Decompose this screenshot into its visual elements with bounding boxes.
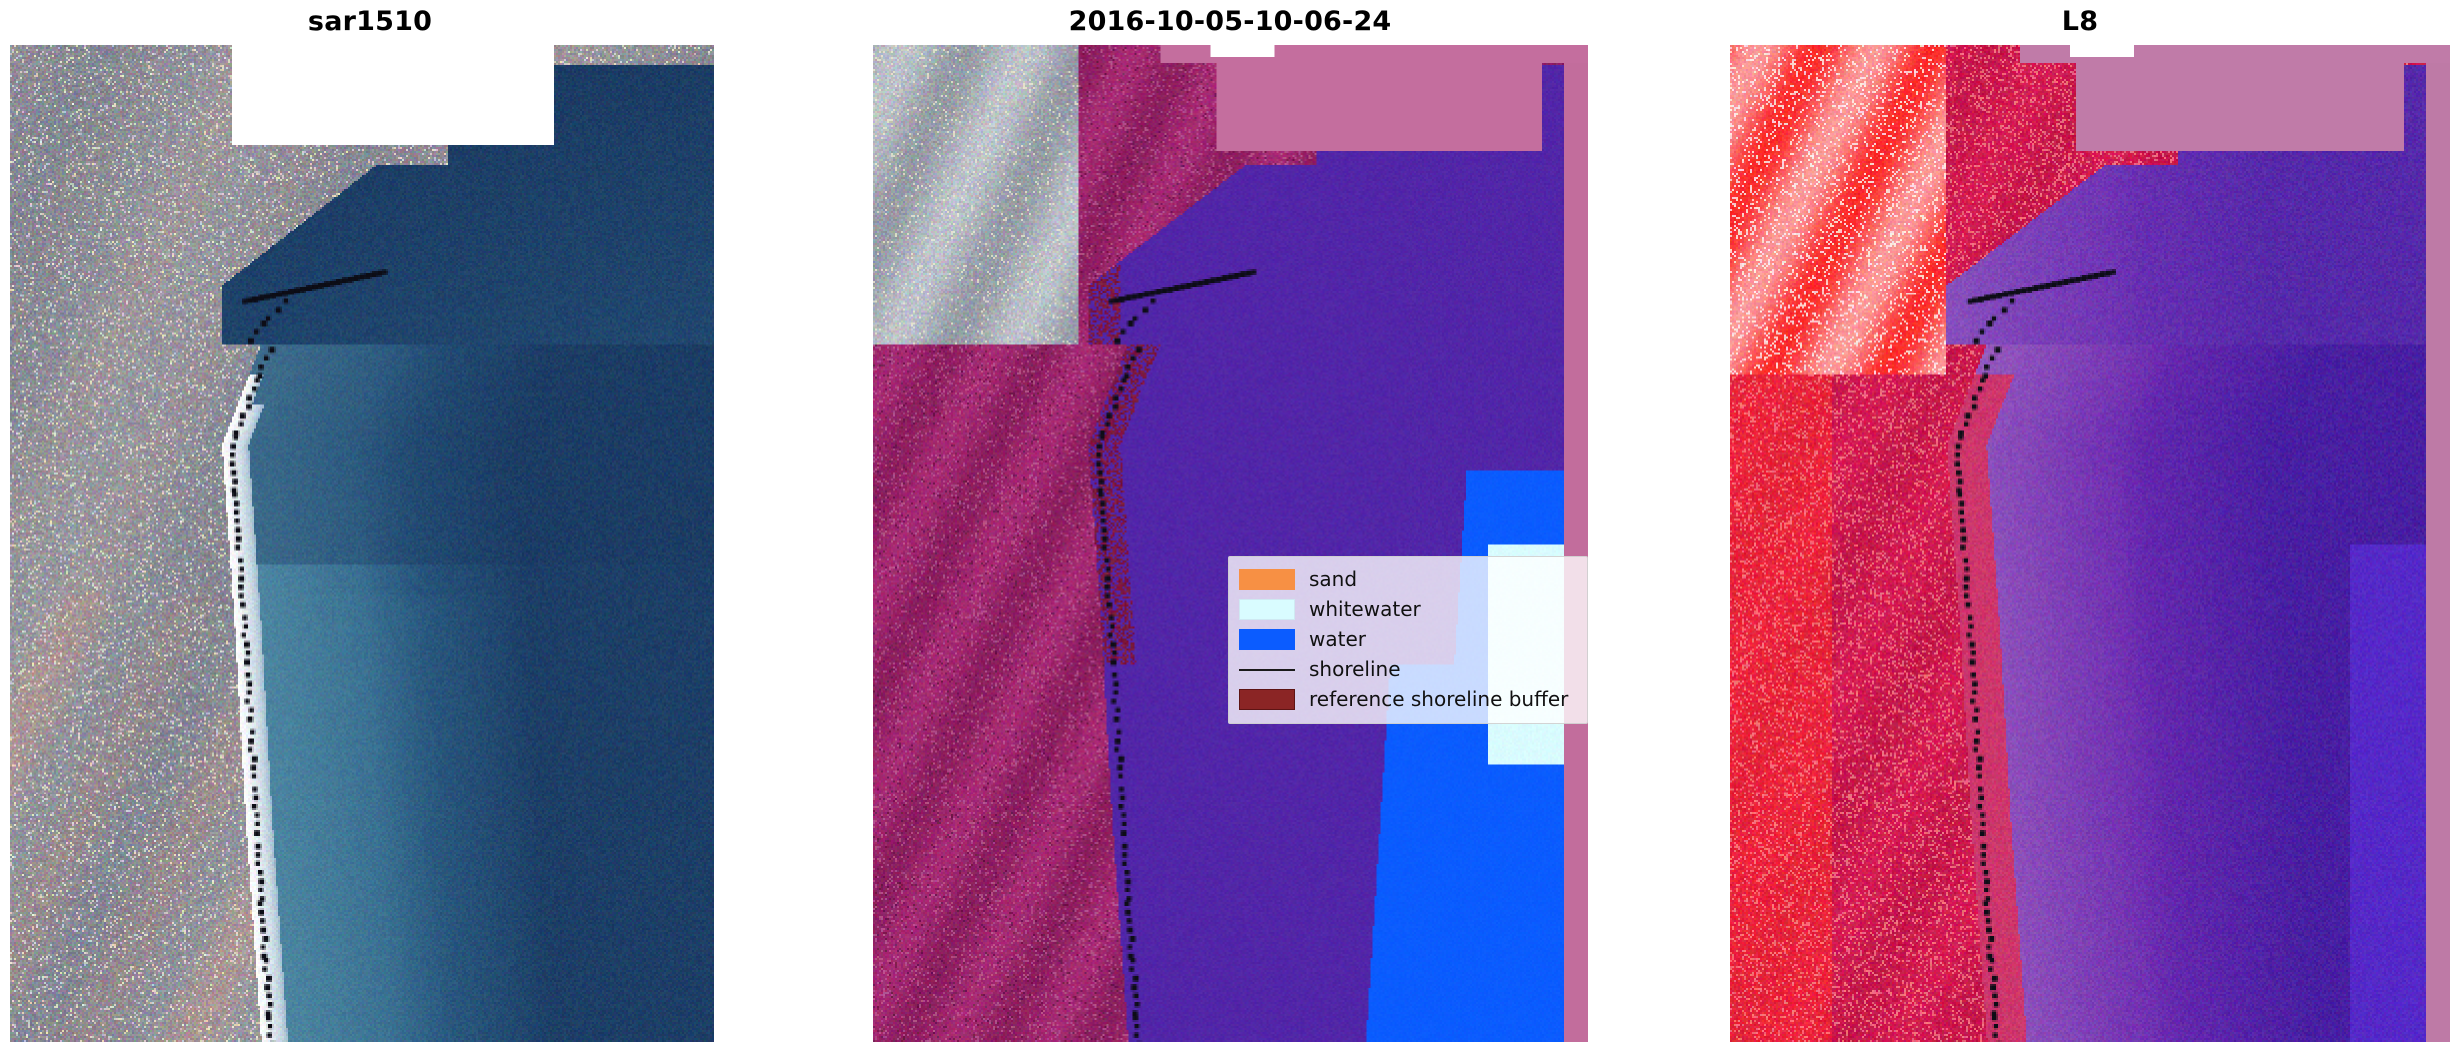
raster-sar [10,45,714,1042]
panel-classification: 2016-10-05-10-06-24 [820,0,1640,1059]
panel-sar1510: sar1510 [0,0,740,1059]
legend-item-reference-shoreline-buffer[interactable]: reference shoreline buffer [1239,684,1577,714]
legend-label-reference-shoreline-buffer: reference shoreline buffer [1309,689,1568,709]
panel-l8: L8 [1700,0,2460,1059]
legend-swatch-sand [1239,569,1295,590]
legend-swatch-water [1239,629,1295,650]
legend-label-water: water [1309,629,1366,649]
legend-swatch-shoreline-line [1239,659,1295,680]
legend-item-sand[interactable]: sand [1239,564,1577,594]
legend-item-whitewater[interactable]: whitewater [1239,594,1577,624]
legend-label-whitewater: whitewater [1309,599,1421,619]
legend-item-shoreline[interactable]: shoreline [1239,654,1577,684]
panel-title-l8: L8 [1700,6,2460,37]
panel-title-sar: sar1510 [0,6,740,37]
raster-l8 [1730,45,2450,1042]
legend-swatch-buffer [1239,689,1295,710]
figure-canvas: sar1510 2016-10-05-10-06-24 L8 sand whit… [0,0,2460,1059]
legend-item-water[interactable]: water [1239,624,1577,654]
legend-swatch-whitewater [1239,599,1295,620]
legend-label-shoreline: shoreline [1309,659,1401,679]
legend-box[interactable]: sand whitewater water shoreline referenc… [1228,556,1588,724]
axes-image-sar[interactable] [10,45,714,1042]
raster-classification [873,45,1588,1042]
axes-image-l8[interactable] [1730,45,2450,1042]
panel-title-classification: 2016-10-05-10-06-24 [820,6,1640,37]
legend-label-sand: sand [1309,569,1357,589]
axes-image-classification[interactable] [873,45,1588,1042]
